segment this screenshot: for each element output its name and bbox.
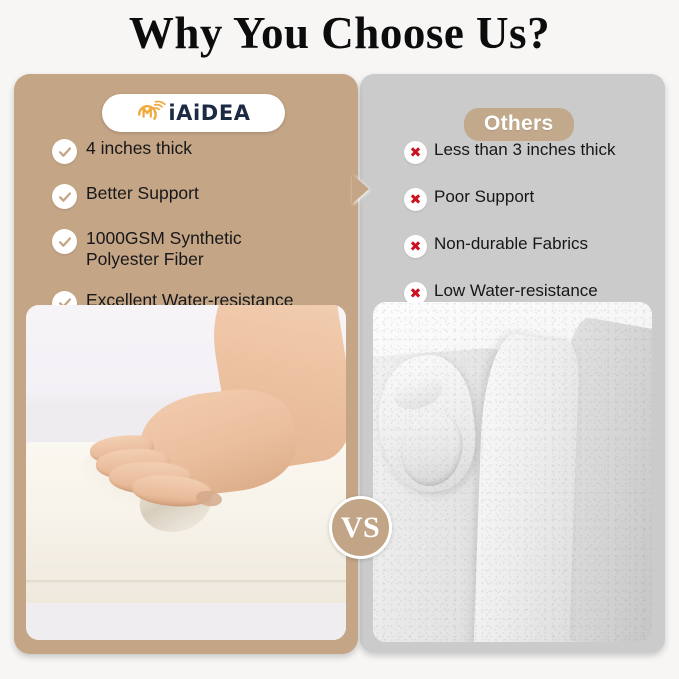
cross-glyph: ✖ [410, 287, 422, 301]
cross-icon: ✖ [404, 235, 427, 258]
comparison-container: iAiDEA 4 inches thick Better Support [14, 74, 665, 654]
others-panel: Others ✖ Less than 3 inches thick ✖ Poor… [360, 74, 665, 653]
foam-bottom-edge [26, 580, 346, 584]
comparison-arrow-icon [352, 174, 369, 204]
others-product-photo [373, 302, 652, 642]
cross-glyph: ✖ [410, 193, 422, 207]
others-photo-scene [373, 302, 652, 642]
list-item: 1000GSM Synthetic Polyester Fiber [52, 228, 352, 271]
others-feature-list: ✖ Less than 3 inches thick ✖ Poor Suppor… [404, 140, 666, 328]
list-item-label: Low Water-resistance [434, 281, 598, 302]
cross-icon: ✖ [404, 141, 427, 164]
list-item: ✖ Poor Support [404, 187, 666, 211]
others-badge: Others [464, 108, 574, 141]
list-item-label: 1000GSM Synthetic Polyester Fiber [86, 228, 242, 271]
cross-glyph: ✖ [410, 146, 422, 160]
brand-panel: iAiDEA 4 inches thick Better Support [14, 74, 358, 654]
check-icon [52, 229, 77, 254]
cross-icon: ✖ [404, 188, 427, 211]
cross-glyph: ✖ [410, 240, 422, 254]
brand-product-photo [26, 305, 346, 640]
list-item: Better Support [52, 183, 352, 209]
check-icon [52, 139, 77, 164]
list-item-label: Non-durable Fabrics [434, 234, 588, 255]
list-item: 4 inches thick [52, 138, 352, 164]
foam-texture [373, 302, 652, 642]
list-item-label: 4 inches thick [86, 138, 192, 159]
list-item-label: Better Support [86, 183, 199, 204]
list-item: ✖ Non-durable Fabrics [404, 234, 666, 258]
check-icon [52, 184, 77, 209]
brand-logo-text: iAiDEA [168, 101, 250, 125]
page-title: Why You Choose Us? [0, 8, 679, 58]
brand-logo: iAiDEA [102, 94, 285, 132]
list-item-label: Poor Support [434, 187, 534, 208]
miaidea-m-wifi-mark-icon [136, 100, 166, 126]
list-item-label: Less than 3 inches thick [434, 140, 615, 161]
vs-badge: VS [329, 496, 392, 559]
list-item: ✖ Less than 3 inches thick [404, 140, 666, 164]
brand-photo-scene [26, 305, 346, 640]
